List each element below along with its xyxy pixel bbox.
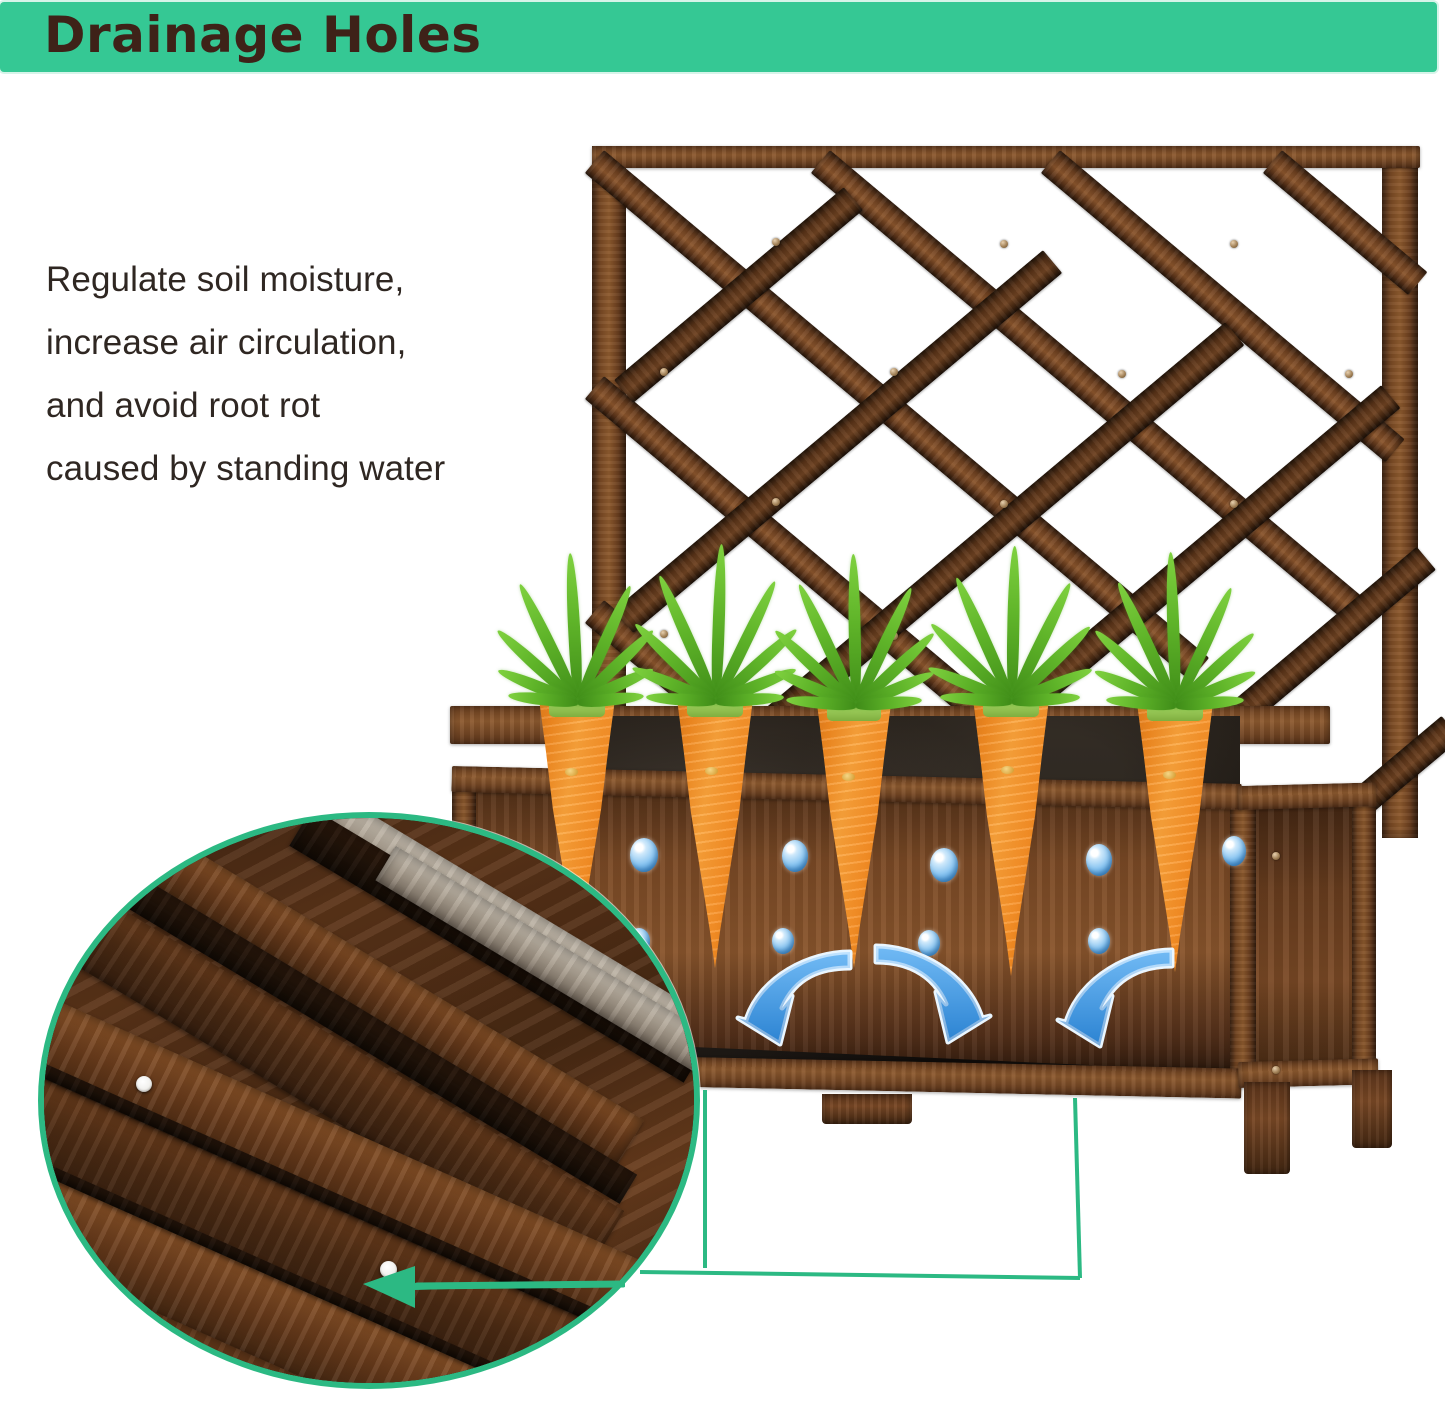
- trellis-screw: [1000, 240, 1008, 248]
- carrot-eye: [842, 773, 855, 781]
- planter-top-lip-side: [1238, 782, 1377, 810]
- airflow-arrow-left: [722, 946, 858, 1046]
- trellis-screw: [772, 238, 780, 246]
- trellis-screw: [1230, 500, 1238, 508]
- carrot: [1132, 704, 1218, 972]
- trellis-screw: [1230, 240, 1238, 248]
- carrot: [968, 700, 1054, 976]
- carrot-eye: [1163, 771, 1176, 779]
- carrot-texture: [968, 700, 1054, 976]
- carrot-leaves: [768, 530, 943, 706]
- water-droplet: [1086, 844, 1112, 876]
- planter-leg-back-right: [1352, 1070, 1392, 1148]
- planter-leg-front-right: [1244, 1082, 1290, 1174]
- trellis-screw: [890, 368, 898, 376]
- airflow-arrow-right: [868, 940, 1008, 1044]
- trellis-screw: [660, 368, 668, 376]
- water-droplet: [1222, 836, 1246, 866]
- drainage-hole-upper: [136, 1076, 152, 1092]
- carrot: [812, 704, 896, 968]
- carrot-eye: [1001, 766, 1014, 774]
- planter-corner-post-back-right: [1352, 790, 1376, 1078]
- trellis-screw: [1345, 370, 1353, 378]
- airflow-arrow-left-2: [1040, 944, 1180, 1048]
- carrot-eye: [705, 767, 718, 775]
- planter-screw: [1272, 852, 1280, 860]
- carrot-texture: [1132, 704, 1218, 972]
- planter-screw: [1272, 1066, 1280, 1074]
- callout-arrow-icon: [355, 1240, 625, 1330]
- water-droplet: [782, 840, 808, 872]
- trellis-screw: [1000, 500, 1008, 508]
- water-droplet: [930, 848, 958, 882]
- carrot-texture: [812, 704, 896, 968]
- carrot-eye: [565, 768, 578, 776]
- carrot-leaves: [924, 522, 1099, 702]
- infographic-canvas: Drainage Holes Regulate soil moisture, i…: [0, 0, 1445, 1417]
- planter-leg-front-center: [822, 1094, 912, 1124]
- planter-corner-post-right: [1230, 786, 1256, 1082]
- trellis-screw: [772, 498, 780, 506]
- trellis-screw: [1118, 370, 1126, 378]
- planter-side-panel: [1238, 790, 1368, 1082]
- carrot-leaves: [1088, 528, 1263, 706]
